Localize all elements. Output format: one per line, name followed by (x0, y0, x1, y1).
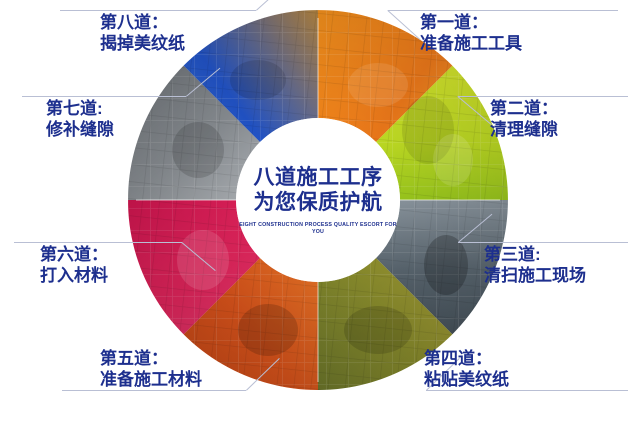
connector-step-8 (60, 2, 320, 48)
center-hub: 八道施工工序 为您保质护航 EIGHT CONSTRUCTION PROCESS… (236, 118, 400, 282)
label-step-1: 第一道： 准备施工工具 (420, 12, 522, 54)
label-step-7: 第七道: 修补缝隙 (46, 98, 114, 140)
label-step-3-desc: 清扫施工现场 (484, 265, 586, 286)
label-step-6: 第六道： 打入材料 (40, 244, 108, 286)
label-step-2: 第二道： 清理缝隙 (490, 98, 558, 140)
label-step-4-desc: 粘贴美纹纸 (424, 369, 509, 390)
label-step-7-desc: 修补缝隙 (46, 119, 114, 140)
label-step-4: 第四道： 粘贴美纹纸 (424, 348, 509, 390)
label-step-5: 第五道： 准备施工材料 (100, 348, 202, 390)
label-step-1-desc: 准备施工工具 (420, 33, 522, 54)
hub-title-line1: 八道施工工序 (254, 166, 383, 189)
label-step-3-title: 第三道: (484, 244, 586, 265)
label-step-8: 第八道： 揭掉美纹纸 (100, 12, 185, 54)
label-step-4-title: 第四道： (424, 348, 509, 369)
label-step-6-desc: 打入材料 (40, 265, 108, 286)
label-step-7-title: 第七道: (46, 98, 114, 119)
label-step-2-title: 第二道： (490, 98, 558, 119)
infographic-canvas: 八道施工工序 为您保质护航 EIGHT CONSTRUCTION PROCESS… (0, 0, 628, 427)
hub-subtitle-en: EIGHT CONSTRUCTION PROCESS QUALITY ESCOR… (234, 222, 401, 236)
label-step-8-title: 第八道： (100, 12, 185, 33)
hub-title-line2: 为您保质护航 (254, 191, 383, 214)
hub-title: 八道施工工序 为您保质护航 (254, 165, 383, 215)
label-step-5-title: 第五道： (100, 348, 202, 369)
label-step-1-title: 第一道： (420, 12, 522, 33)
label-step-5-desc: 准备施工材料 (100, 369, 202, 390)
label-step-2-desc: 清理缝隙 (490, 119, 558, 140)
label-step-8-desc: 揭掉美纹纸 (100, 33, 185, 54)
label-step-6-title: 第六道： (40, 244, 108, 265)
label-step-3: 第三道: 清扫施工现场 (484, 244, 586, 286)
